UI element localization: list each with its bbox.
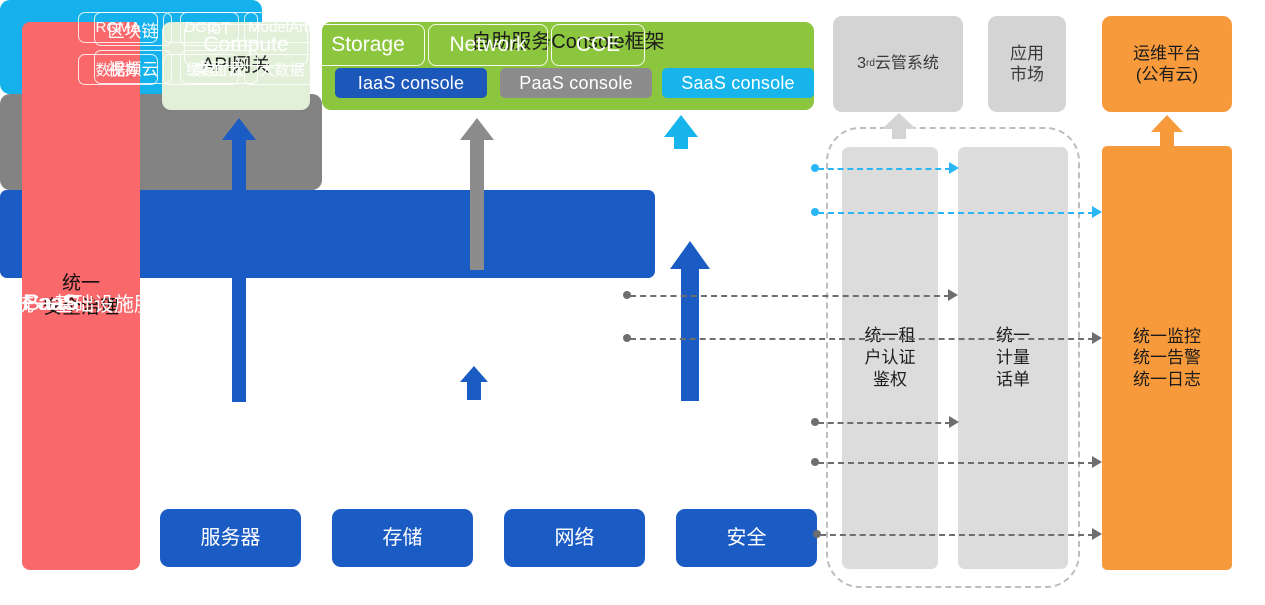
third-party-cloud-management-box: 3rd云管系统: [833, 16, 963, 112]
unified-metering-column: 统一 计量 话单: [958, 147, 1068, 569]
saas-console-pill[interactable]: SaaS console: [662, 68, 814, 98]
hardware-box-security: 安全: [676, 509, 817, 567]
connector-paas-to-ops: [630, 338, 1094, 340]
hardware-box-network: 网络: [504, 509, 645, 567]
application-market-box: 应用 市场: [988, 16, 1066, 112]
unified-infrastructure-label: 统一基础设施服务: [14, 0, 174, 605]
architecture-diagram: 统一 安全治理 API网关 自助服务Console框架 IaaS console…: [0, 0, 1265, 605]
hardware-box-server: 服务器: [160, 509, 301, 567]
connector-arrowhead-saas-ops: [1092, 206, 1102, 218]
third-cloud-suffix: 云管系统: [875, 54, 939, 74]
arrow-infra-to-paas: [460, 366, 488, 400]
arrow-paas-to-console: [460, 118, 494, 270]
hardware-box-storage: 存储: [332, 509, 473, 567]
arrow-infra-to-saas: [670, 241, 710, 401]
arrow-to-third-cloud: [882, 113, 916, 139]
connector-infra-to-ops: [818, 462, 1094, 464]
infra-chip-cce[interactable]: CCE: [551, 24, 645, 66]
ops-platform-header-box: 运维平台 (公有云): [1102, 16, 1232, 112]
third-cloud-superscript: rd: [866, 58, 875, 71]
connector-arrowhead-saas-auth: [949, 162, 959, 174]
infra-chip-network[interactable]: Network: [428, 24, 548, 66]
connector-arrowhead-paas-auth: [948, 289, 958, 301]
arrow-to-ops-platform: [1151, 115, 1183, 147]
third-cloud-prefix: 3: [857, 54, 866, 74]
connector-paas-to-auth: [630, 295, 950, 297]
connector-arrowhead-infra-auth: [949, 416, 959, 428]
connector-saas-to-ops: [818, 212, 1094, 214]
connector-arrowhead-paas-ops: [1092, 332, 1102, 344]
infra-chip-storage[interactable]: Storage: [311, 24, 425, 66]
unified-infrastructure-bar: 统一基础设施服务 Compute Storage Network CCE: [0, 190, 655, 278]
connector-hardware-to-ops: [820, 534, 1094, 536]
connector-arrowhead-hardware-ops: [1092, 528, 1102, 540]
connector-saas-to-auth: [818, 168, 951, 170]
infra-chip-compute[interactable]: Compute: [184, 24, 308, 66]
arrow-infra-to-api-gateway: [222, 118, 256, 402]
paas-console-pill[interactable]: PaaS console: [500, 68, 652, 98]
arrow-saas-to-console: [664, 115, 698, 149]
connector-arrowhead-infra-ops: [1092, 456, 1102, 468]
connector-infra-to-auth: [818, 422, 951, 424]
iaas-console-pill[interactable]: IaaS console: [335, 68, 487, 98]
unified-tenant-auth-column: 统一租 户认证 鉴权: [842, 147, 938, 569]
ops-platform-body-box: 统一监控 统一告警 统一日志: [1102, 146, 1232, 570]
